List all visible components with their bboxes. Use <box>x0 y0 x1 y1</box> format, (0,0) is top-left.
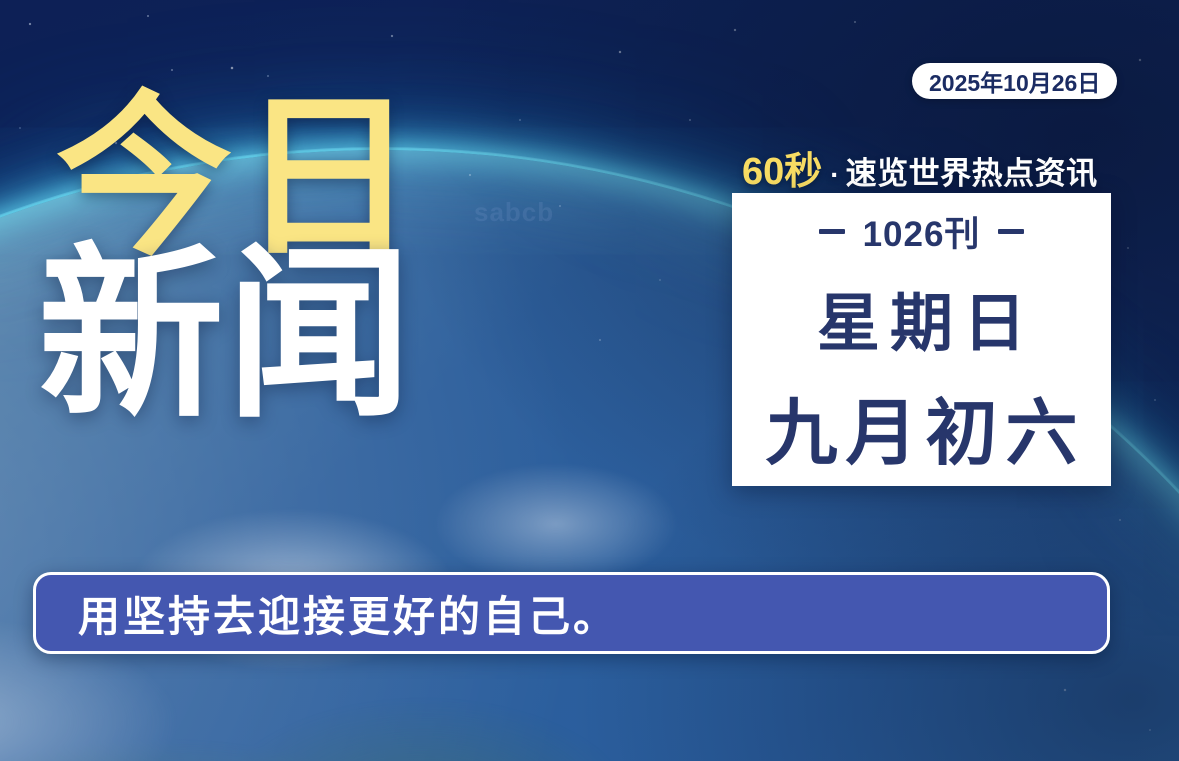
weekday-label: 星期日 <box>807 273 1036 364</box>
tagline: 60秒 · 速览世界热点资讯 <box>742 140 1098 195</box>
title-line-xinwen: 新闻 <box>38 249 424 424</box>
quote-text: 用坚持去迎接更好的自己。 <box>78 583 618 644</box>
info-card: 1026刊 星期日 九月初六 <box>732 193 1111 486</box>
issue-row: 1026刊 <box>819 206 1025 257</box>
issue-number: 1026刊 <box>863 206 981 257</box>
lunar-date-label: 九月初六 <box>757 374 1085 479</box>
date-badge-label: 2025年10月26日 <box>929 64 1100 98</box>
issue-dash-right-icon <box>998 229 1024 234</box>
news-poster: sabcb 今日 新闻 2025年10月26日 60秒 · 速览世界热点资讯 1… <box>0 0 1179 761</box>
poster-title: 今日 新闻 <box>56 96 424 424</box>
quote-banner: 用坚持去迎接更好的自己。 <box>33 572 1110 654</box>
issue-dash-left-icon <box>819 229 845 234</box>
date-badge: 2025年10月26日 <box>912 63 1117 99</box>
tagline-description: 速览世界热点资讯 <box>846 148 1098 193</box>
tagline-separator: · <box>830 159 839 191</box>
tagline-seconds: 60秒 <box>742 140 822 195</box>
